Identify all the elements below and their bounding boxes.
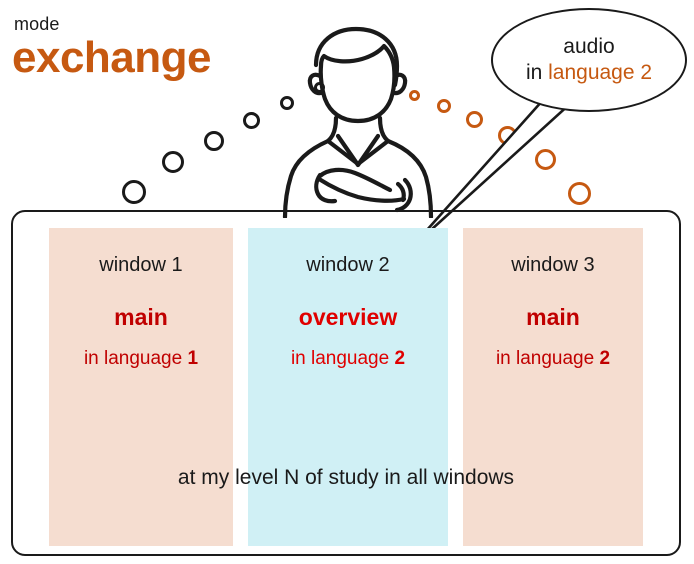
window-panel-3-title: window 3 (463, 254, 643, 277)
window-panel-1-language-prefix: in language (84, 348, 188, 369)
speech-balloon-line-1: audio (563, 35, 614, 59)
left-dot-3 (204, 131, 224, 151)
speech-balloon-line-2-prefix: in (526, 61, 548, 84)
speech-balloon-text: audio in language 2 (491, 8, 687, 112)
window-panel-3-kind: main (463, 304, 643, 331)
window-panel-1-language: in language 1 (49, 348, 233, 370)
window-panel-3-language-number: 2 (599, 348, 610, 369)
window-panel-3-language-prefix: in language (496, 348, 600, 369)
window-panel-2-title: window 2 (248, 254, 448, 277)
window-panel-2-language-prefix: in language (291, 348, 395, 369)
window-panel-1-language-number: 1 (187, 348, 198, 369)
window-panel-1-kind: main (49, 304, 233, 331)
window-panel-1[interactable]: window 1 main in language 1 (49, 228, 233, 546)
window-panel-2-kind: overview (248, 304, 448, 331)
left-dot-1 (122, 180, 146, 204)
mode-label: mode (14, 14, 59, 35)
window-panel-2-language: in language 2 (248, 348, 448, 370)
right-dot-4 (498, 126, 517, 145)
windows-panels-row: window 1 main in language 1 window 2 ove… (11, 228, 681, 546)
right-dot-3 (466, 111, 483, 128)
window-panel-2[interactable]: window 2 overview in language 2 (248, 228, 448, 546)
window-panel-3-language: in language 2 (463, 348, 643, 370)
speech-balloon-line-2: in language 2 (526, 61, 652, 85)
audio-speech-balloon: audio in language 2 (491, 8, 687, 112)
footer-note: at my level N of study in all windows (11, 466, 681, 490)
window-panel-3[interactable]: window 3 main in language 2 (463, 228, 643, 546)
left-dot-2 (162, 151, 184, 173)
window-panel-1-title: window 1 (49, 254, 233, 277)
window-panel-2-language-number: 2 (394, 348, 405, 369)
person-crossed-arms-icon (258, 18, 458, 218)
exchange-mode-diagram: mode exchange (0, 0, 694, 564)
right-dot-5 (535, 149, 556, 170)
mode-title: exchange (12, 36, 211, 80)
speech-balloon-line-2-highlight: language 2 (548, 61, 652, 84)
right-dot-6 (568, 182, 591, 205)
